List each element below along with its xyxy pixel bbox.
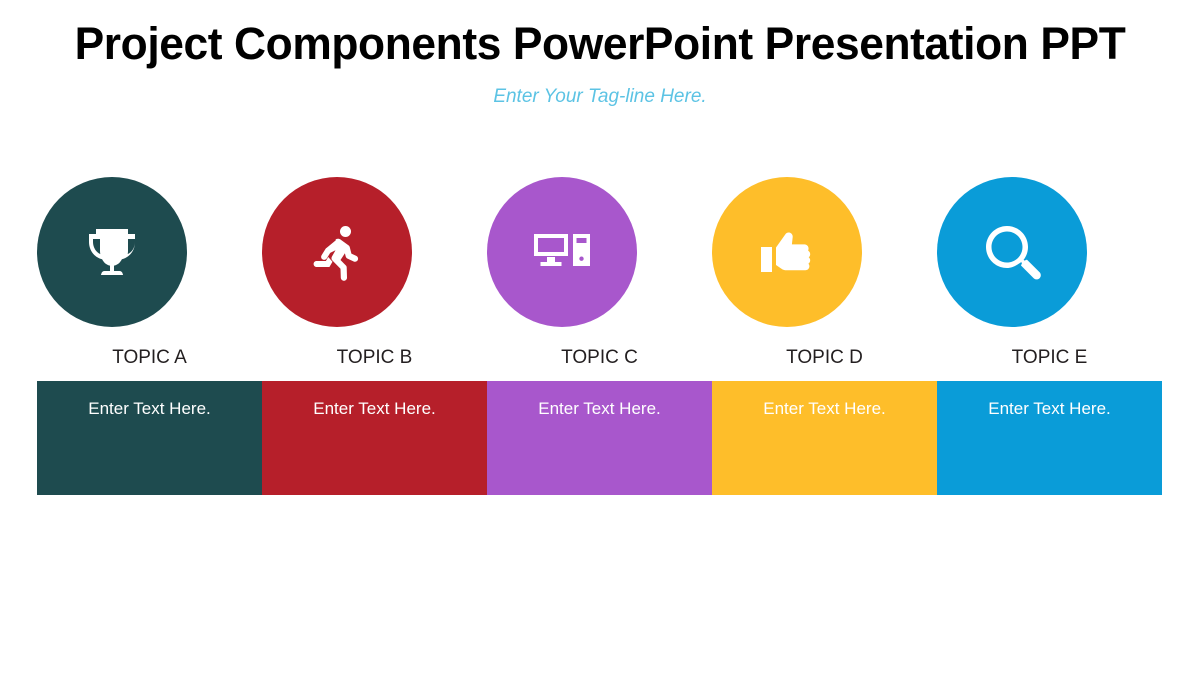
- running-person-icon: [305, 220, 369, 284]
- trophy-icon: [80, 220, 144, 284]
- topic-circle-d[interactable]: [712, 177, 862, 327]
- topic-bar-c[interactable]: Enter Text Here.: [487, 381, 712, 495]
- topic-label-c: TOPIC C: [487, 346, 712, 370]
- topic-body-e[interactable]: Enter Text Here.: [937, 398, 1162, 420]
- page-title: Project Components PowerPoint Presentati…: [9, 17, 1191, 71]
- slide-canvas: Project Components PowerPoint Presentati…: [0, 0, 1200, 675]
- topic-bar-b[interactable]: Enter Text Here.: [262, 381, 487, 495]
- thumbs-up-icon: [755, 220, 819, 284]
- topic-label-e: TOPIC E: [937, 346, 1162, 370]
- topic-label-a: TOPIC A: [37, 346, 262, 370]
- slide-tagline: Enter Your Tag-line Here.: [0, 84, 1200, 109]
- topic-body-d[interactable]: Enter Text Here.: [712, 398, 937, 420]
- topic-body-c[interactable]: Enter Text Here.: [487, 398, 712, 420]
- magnifier-search-icon: [980, 220, 1044, 284]
- topic-circle-b[interactable]: [262, 177, 412, 327]
- topic-body-a[interactable]: Enter Text Here.: [37, 398, 262, 420]
- topic-bar-d[interactable]: Enter Text Here.: [712, 381, 937, 495]
- topic-icon-row: [37, 177, 1162, 327]
- topic-circle-a[interactable]: [37, 177, 187, 327]
- topic-bar-row: Enter Text Here. Enter Text Here. Enter …: [37, 381, 1162, 495]
- topic-label-b: TOPIC B: [262, 346, 487, 370]
- topic-circle-c[interactable]: [487, 177, 637, 327]
- topic-label-row: TOPIC A TOPIC B TOPIC C TOPIC D TOPIC E: [37, 346, 1162, 370]
- topic-label-d: TOPIC D: [712, 346, 937, 370]
- topic-bar-e[interactable]: Enter Text Here.: [937, 381, 1162, 495]
- topic-body-b[interactable]: Enter Text Here.: [262, 398, 487, 420]
- desktop-computer-icon: [530, 220, 594, 284]
- topic-bar-a[interactable]: Enter Text Here.: [37, 381, 262, 495]
- topic-circle-e[interactable]: [937, 177, 1087, 327]
